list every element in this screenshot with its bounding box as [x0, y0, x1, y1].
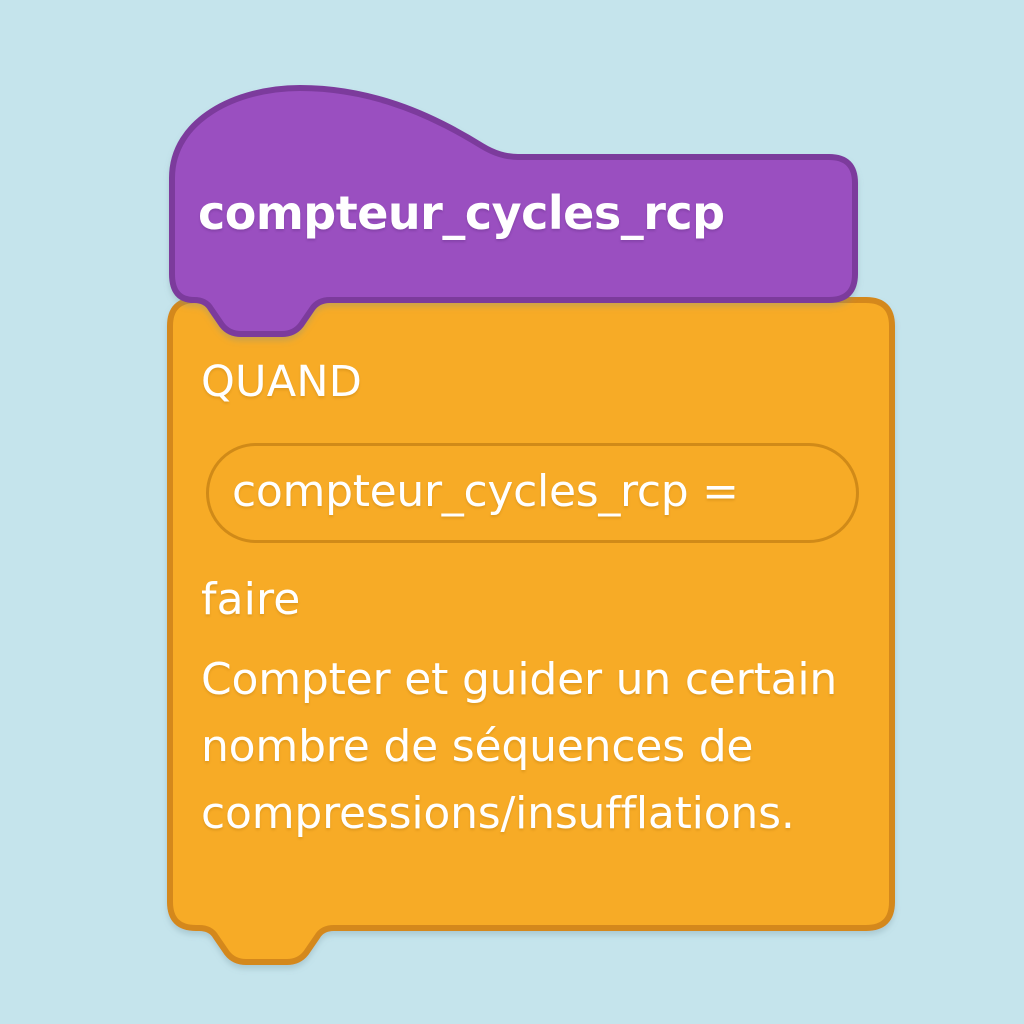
when-keyword-label: QUAND: [201, 361, 362, 404]
block-content-layer: compteur_cycles_rcp QUAND compteur_cycle…: [0, 0, 1024, 1024]
condition-input-value[interactable]: compteur_cycles_rcp =: [232, 470, 739, 514]
block-canvas: compteur_cycles_rcp QUAND compteur_cycle…: [0, 0, 1024, 1024]
block-description-text: Compter et guider un certain nombre de s…: [201, 646, 891, 847]
do-keyword-label: faire: [201, 578, 300, 622]
hat-block-label[interactable]: compteur_cycles_rcp: [198, 190, 848, 236]
